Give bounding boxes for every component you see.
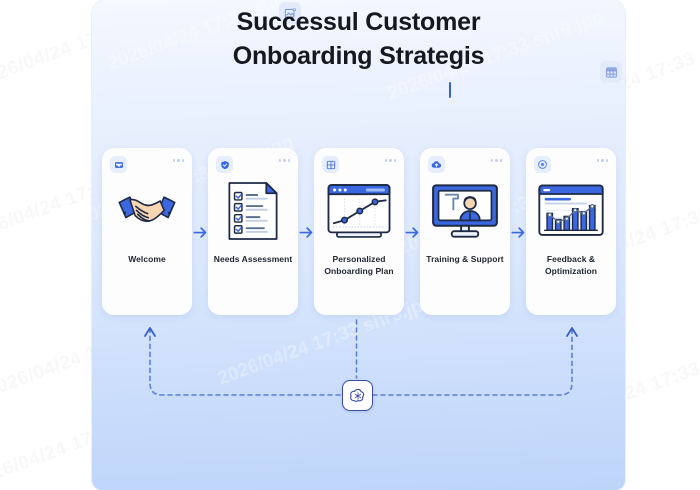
step-card-personalized-plan[interactable]: Personalized Onboarding Plan [314,148,404,315]
checklist-document-illustration [217,178,289,244]
monitor-video-training-illustration [429,178,501,244]
step-card-feedback-optimization[interactable]: Feedback & Optimization [526,148,616,315]
arrow-right-icon [404,226,420,239]
bar-chart-analytics-illustration [535,178,607,244]
cloud-upload-icon [428,156,445,173]
title-line-2: Onboarding Strategis [92,40,625,74]
page-title: Successul Customer Onboarding Strategis [92,6,625,73]
arrow-right-icon [192,226,208,239]
shield-icon [216,156,233,173]
title-line-1: Successul Customer [92,6,625,40]
handshake-illustration [111,178,183,244]
more-options-dots[interactable] [597,159,609,162]
grid-layout-icon [322,156,339,173]
mail-inbox-icon [110,156,127,173]
text-caret [449,82,451,98]
slide-panel: 2026/04/24 17:33 shr9.jpg 2026/04/24 17:… [92,0,625,490]
more-options-dots[interactable] [491,159,503,162]
more-options-dots[interactable] [279,159,291,162]
arrow-right-icon [298,226,314,239]
browser-line-chart-illustration [323,178,395,244]
step-card-needs-assessment[interactable]: Needs Assessment [208,148,298,315]
step-card-label: Feedback & Optimization [529,254,613,277]
target-circle-icon [534,156,551,173]
more-options-dots[interactable] [385,159,397,162]
step-card-welcome[interactable]: Welcome [102,148,192,315]
openai-swirl-logo [342,380,373,411]
step-card-label: Personalized Onboarding Plan [317,254,401,277]
step-card-label: Training & Support [423,254,507,266]
onboarding-steps-row: Welcome [102,148,615,318]
step-card-training-support[interactable]: Training & Support [420,148,510,315]
step-card-label: Needs Assessment [211,254,295,266]
arrow-right-icon [510,226,526,239]
more-options-dots[interactable] [173,159,185,162]
step-card-label: Welcome [105,254,189,266]
